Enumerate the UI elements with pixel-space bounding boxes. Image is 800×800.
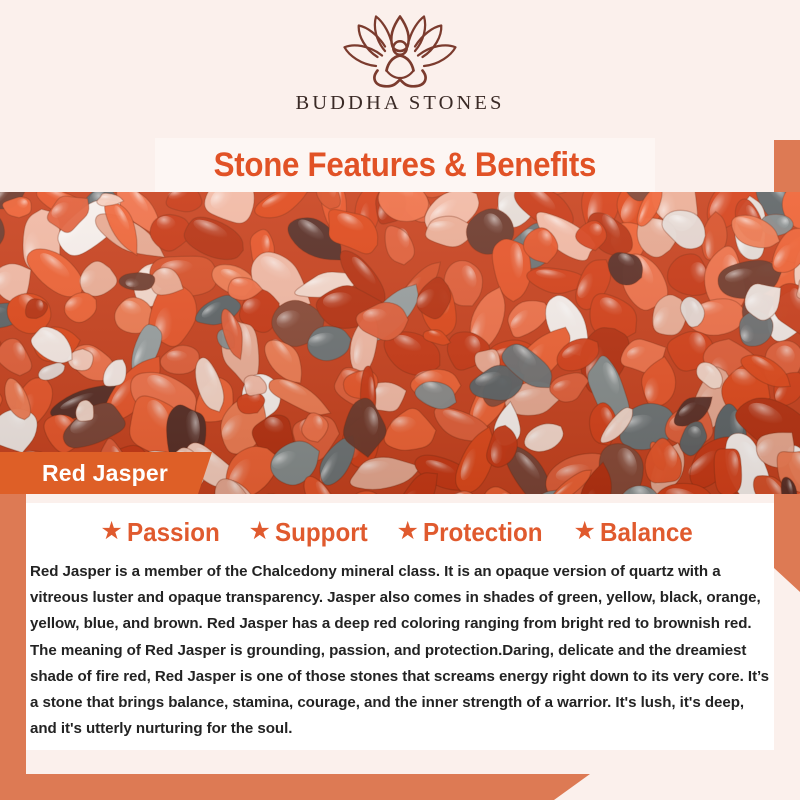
benefits-row: ★ Passion ★ Support ★ Protection ★ Balan…	[26, 517, 774, 548]
benefit-item: ★ Passion	[100, 517, 226, 548]
title-banner: Stone Features & Benefits	[155, 138, 655, 192]
star-icon: ★	[248, 519, 270, 544]
lotus-meditating-figure-icon	[325, 12, 475, 90]
stone-description: Red Jasper is a member of the Chalcedony…	[30, 559, 774, 742]
star-icon: ★	[574, 519, 596, 544]
benefit-label: Protection	[423, 517, 543, 548]
page-title: Stone Features & Benefits	[214, 146, 596, 185]
star-icon: ★	[397, 519, 419, 544]
stone-name-text: Red Jasper	[42, 460, 168, 487]
star-icon: ★	[100, 519, 122, 544]
benefit-label: Support	[275, 517, 368, 548]
benefit-label: Balance	[600, 517, 693, 548]
benefit-label: Passion	[127, 517, 220, 548]
brand-header: BUDDHA STONES	[0, 0, 800, 140]
stone-name-ribbon: Red Jasper	[0, 452, 212, 494]
benefit-item: ★ Protection	[397, 517, 552, 548]
stone-photo-canvas	[0, 192, 800, 494]
benefit-item: ★ Balance	[574, 517, 700, 548]
infographic-poster: BUDDHA STONES Stone Features & Benefits	[0, 0, 800, 800]
stone-photo	[0, 192, 800, 494]
content-panel: ★ Passion ★ Support ★ Protection ★ Balan…	[26, 503, 774, 750]
benefit-item: ★ Support	[248, 517, 374, 548]
left-frame-bar	[0, 494, 26, 774]
brand-name: BUDDHA STONES	[295, 92, 504, 115]
bottom-left-corner-wedge	[0, 774, 590, 800]
